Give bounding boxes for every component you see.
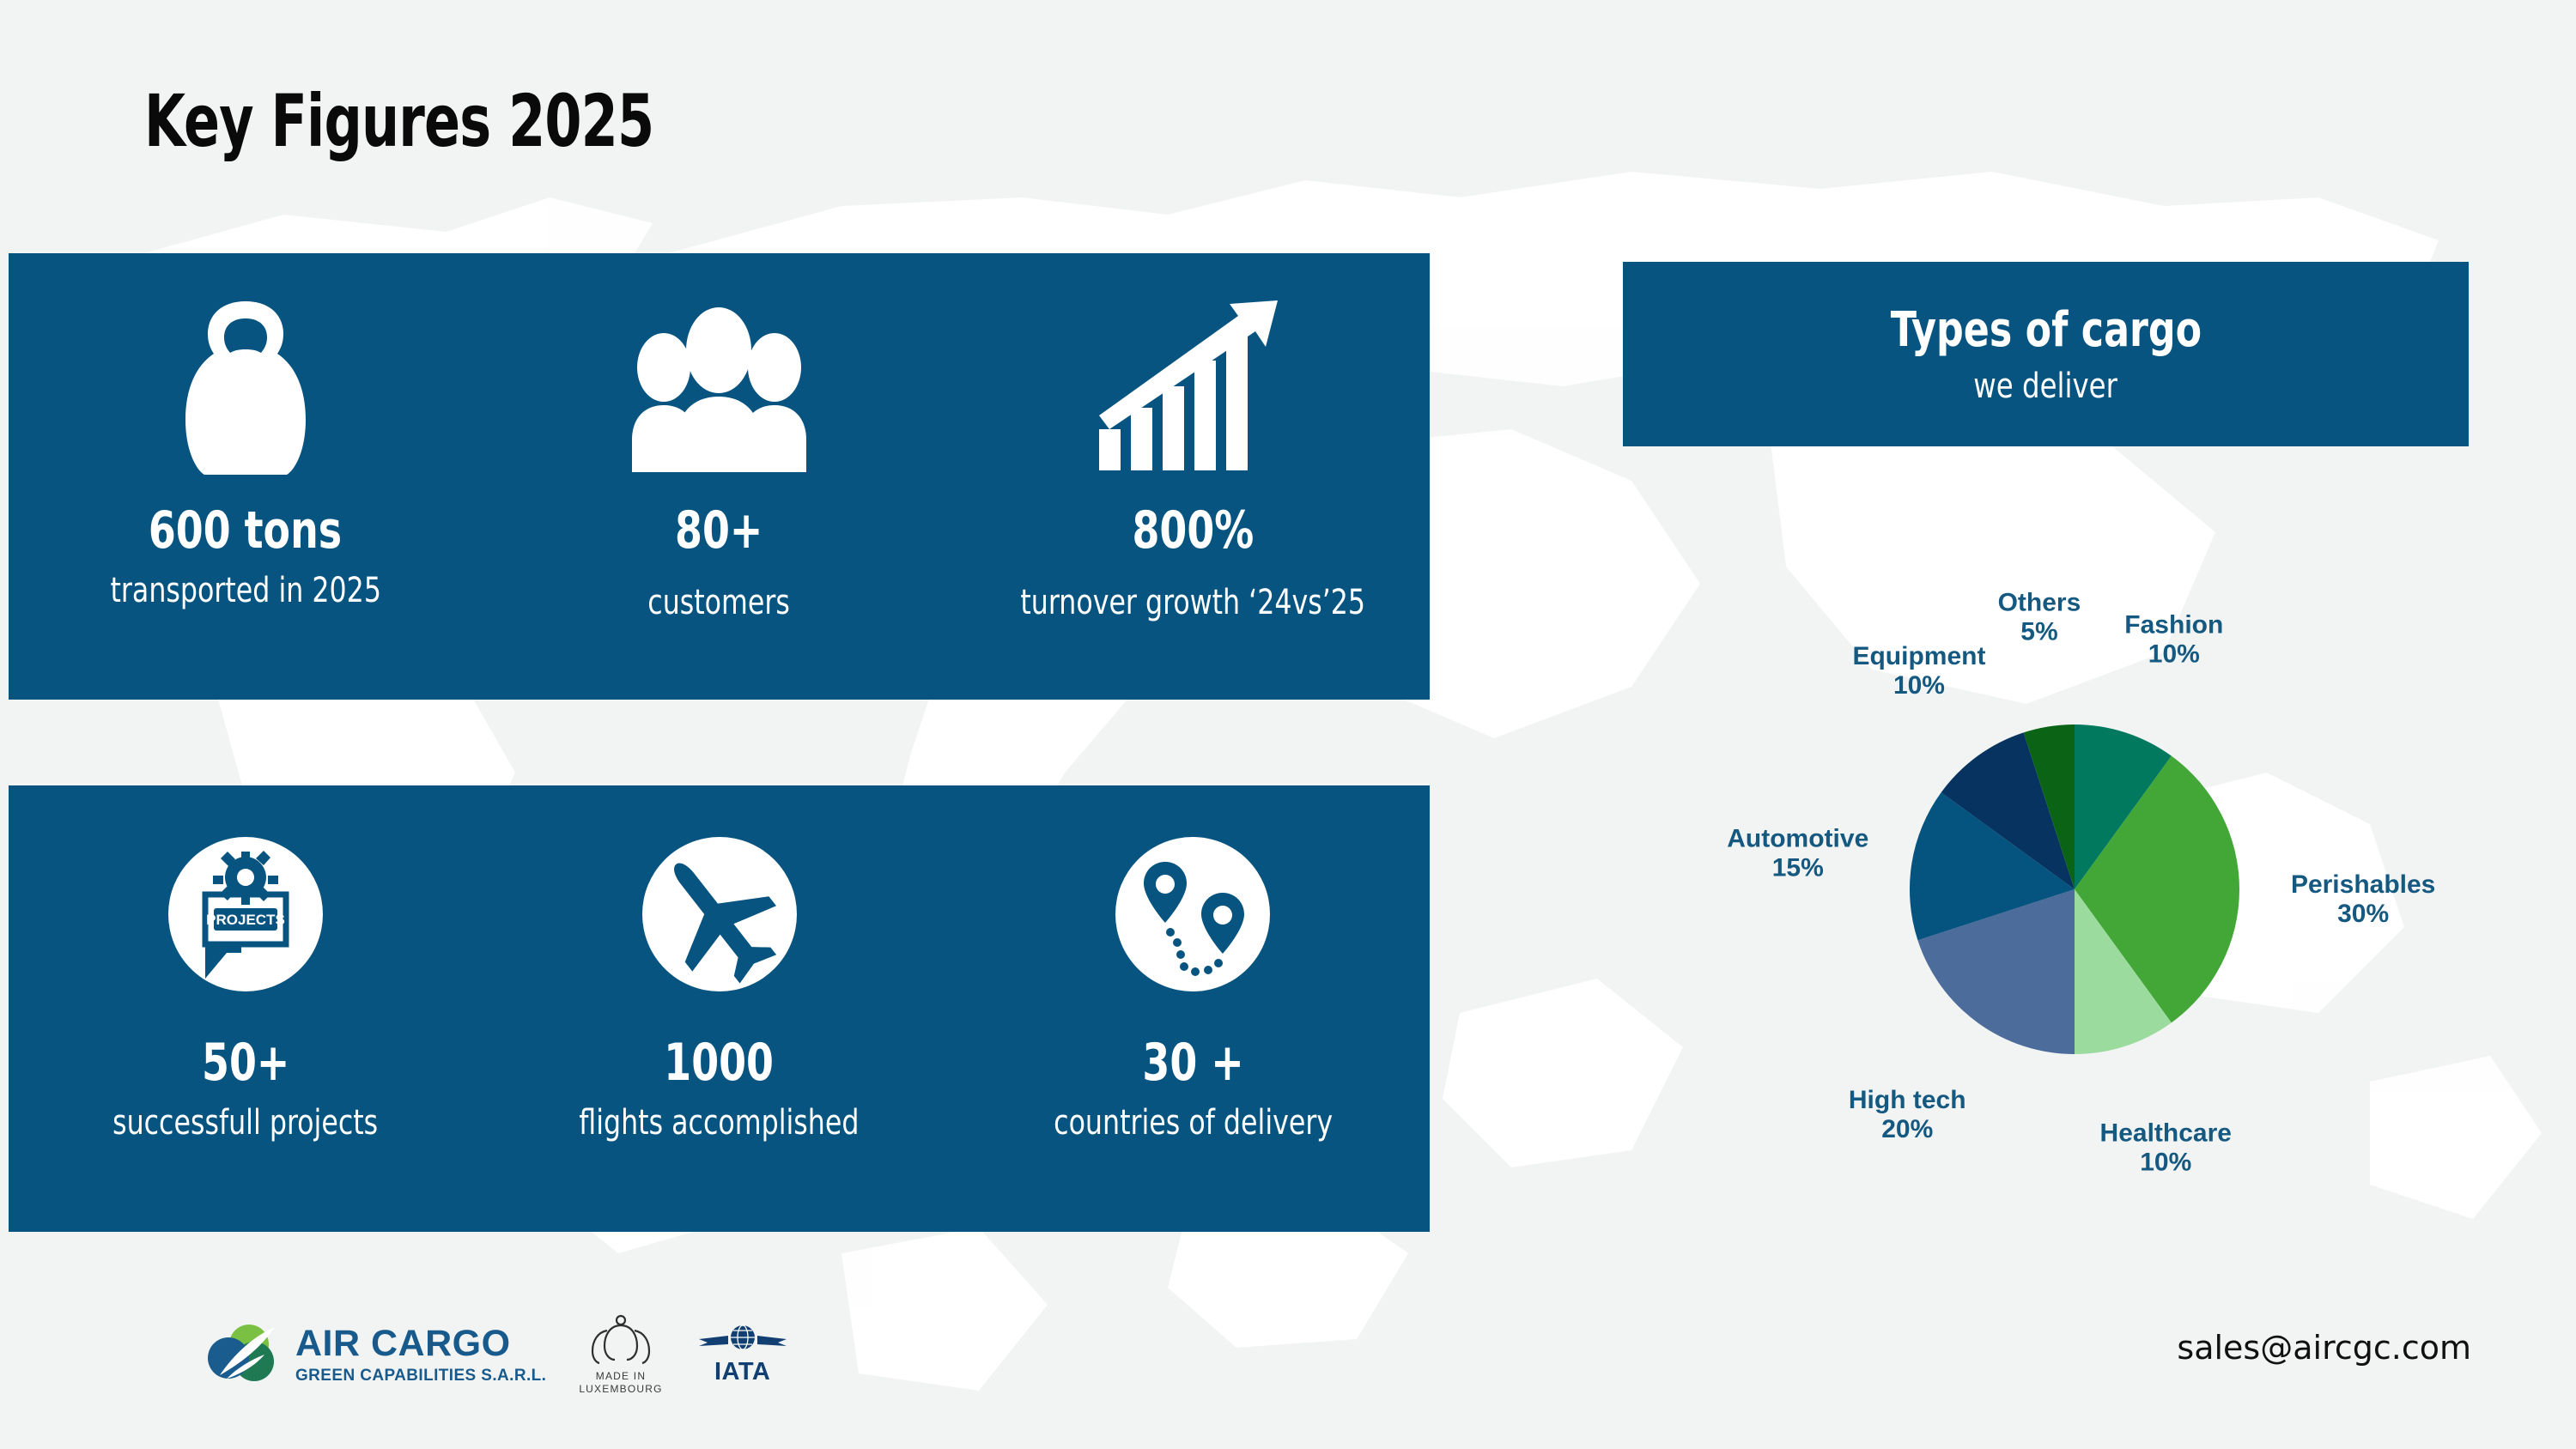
route-pins-icon — [1107, 820, 1279, 1017]
stat-value: 30 + — [1142, 1033, 1243, 1093]
pie-label-high-tech: High tech20% — [1849, 1086, 1966, 1143]
stats-row: 600 tons transported in 2025 80+ custom — [9, 253, 1430, 700]
lux-line2: LUXEMBOURG — [579, 1383, 662, 1395]
pie-label-others: Others5% — [1998, 589, 2081, 646]
pie-label-equipment: Equipment10% — [1852, 642, 1985, 700]
stat-value: 800% — [1132, 500, 1254, 561]
air-cargo-name: AIR CARGO — [295, 1325, 546, 1362]
pie-label-automotive: Automotive15% — [1727, 824, 1868, 882]
growth-chart-icon — [1094, 288, 1291, 485]
air-cargo-logo: AIR CARGO GREEN CAPABILITIES S.A.R.L. — [204, 1322, 546, 1387]
lux-line1: MADE IN — [596, 1370, 646, 1382]
stat-label: flights accomplished — [579, 1103, 859, 1143]
cargo-types-pie-chart: Fashion10%Perishables30%Healthcare10%Hig… — [1597, 532, 2559, 1082]
made-in-luxembourg-logo: MADE IN LUXEMBOURG — [579, 1313, 662, 1396]
pie-svg: Fashion10%Perishables30%Healthcare10%Hig… — [1597, 532, 2559, 1082]
page-title: Key Figures 2025 — [144, 79, 653, 163]
stat-item-tons: 600 tons transported in 2025 — [9, 288, 483, 610]
stat-value: 1000 — [665, 1033, 775, 1093]
kettlebell-icon — [164, 288, 327, 485]
stats-panel-top: 600 tons transported in 2025 80+ custom — [9, 253, 1430, 700]
iata-text: IATA — [714, 1358, 770, 1386]
people-group-icon — [627, 288, 811, 485]
footer-logos: AIR CARGO GREEN CAPABILITIES S.A.R.L. MA… — [204, 1313, 790, 1396]
stat-value: 600 tons — [149, 500, 342, 561]
stat-item-countries: 30 + countries of delivery — [956, 820, 1430, 1143]
stats-row: PROJECTS 50+ successfull projects 1000 f… — [9, 785, 1430, 1232]
stat-value: 80+ — [675, 500, 762, 561]
pie-label-fashion: Fashion10% — [2124, 611, 2223, 669]
stat-label: successfull projects — [112, 1103, 378, 1143]
stat-label: customers — [648, 583, 791, 622]
stat-label: countries of delivery — [1054, 1103, 1333, 1143]
stat-item-flights: 1000 flights accomplished — [483, 820, 957, 1143]
crown-icon — [584, 1313, 658, 1368]
svg-text:PROJECTS: PROJECTS — [206, 912, 285, 928]
cargo-header-box: Types of cargo we deliver — [1623, 262, 2469, 446]
airplane-icon — [634, 820, 805, 1017]
air-cargo-mark-icon — [204, 1322, 283, 1387]
pie-label-healthcare: Healthcare10% — [2100, 1119, 2232, 1176]
stat-item-customers: 80+ customers — [483, 288, 957, 622]
iata-winged-globe-icon — [696, 1324, 790, 1361]
stat-value: 50+ — [202, 1033, 289, 1093]
cargo-header-title: Types of cargo — [1890, 302, 2201, 358]
stat-label: turnover growth ‘24vs’25 — [1020, 583, 1365, 622]
cargo-header-subtitle: we deliver — [1974, 367, 2118, 406]
iata-logo: IATA — [696, 1324, 790, 1386]
projects-banner-icon: PROJECTS — [160, 820, 331, 1017]
pie-slices — [1910, 724, 2239, 1054]
contact-email[interactable]: sales@aircgc.com — [2177, 1329, 2471, 1367]
stats-panel-bottom: PROJECTS 50+ successfull projects 1000 f… — [9, 785, 1430, 1232]
stat-item-projects: PROJECTS 50+ successfull projects — [9, 820, 483, 1143]
pie-label-perishables: Perishables30% — [2291, 870, 2435, 928]
air-cargo-tagline: GREEN CAPABILITIES S.A.R.L. — [295, 1367, 546, 1384]
stat-item-turnover: 800% turnover growth ‘24vs’25 — [956, 288, 1430, 622]
stat-label: transported in 2025 — [110, 571, 380, 610]
